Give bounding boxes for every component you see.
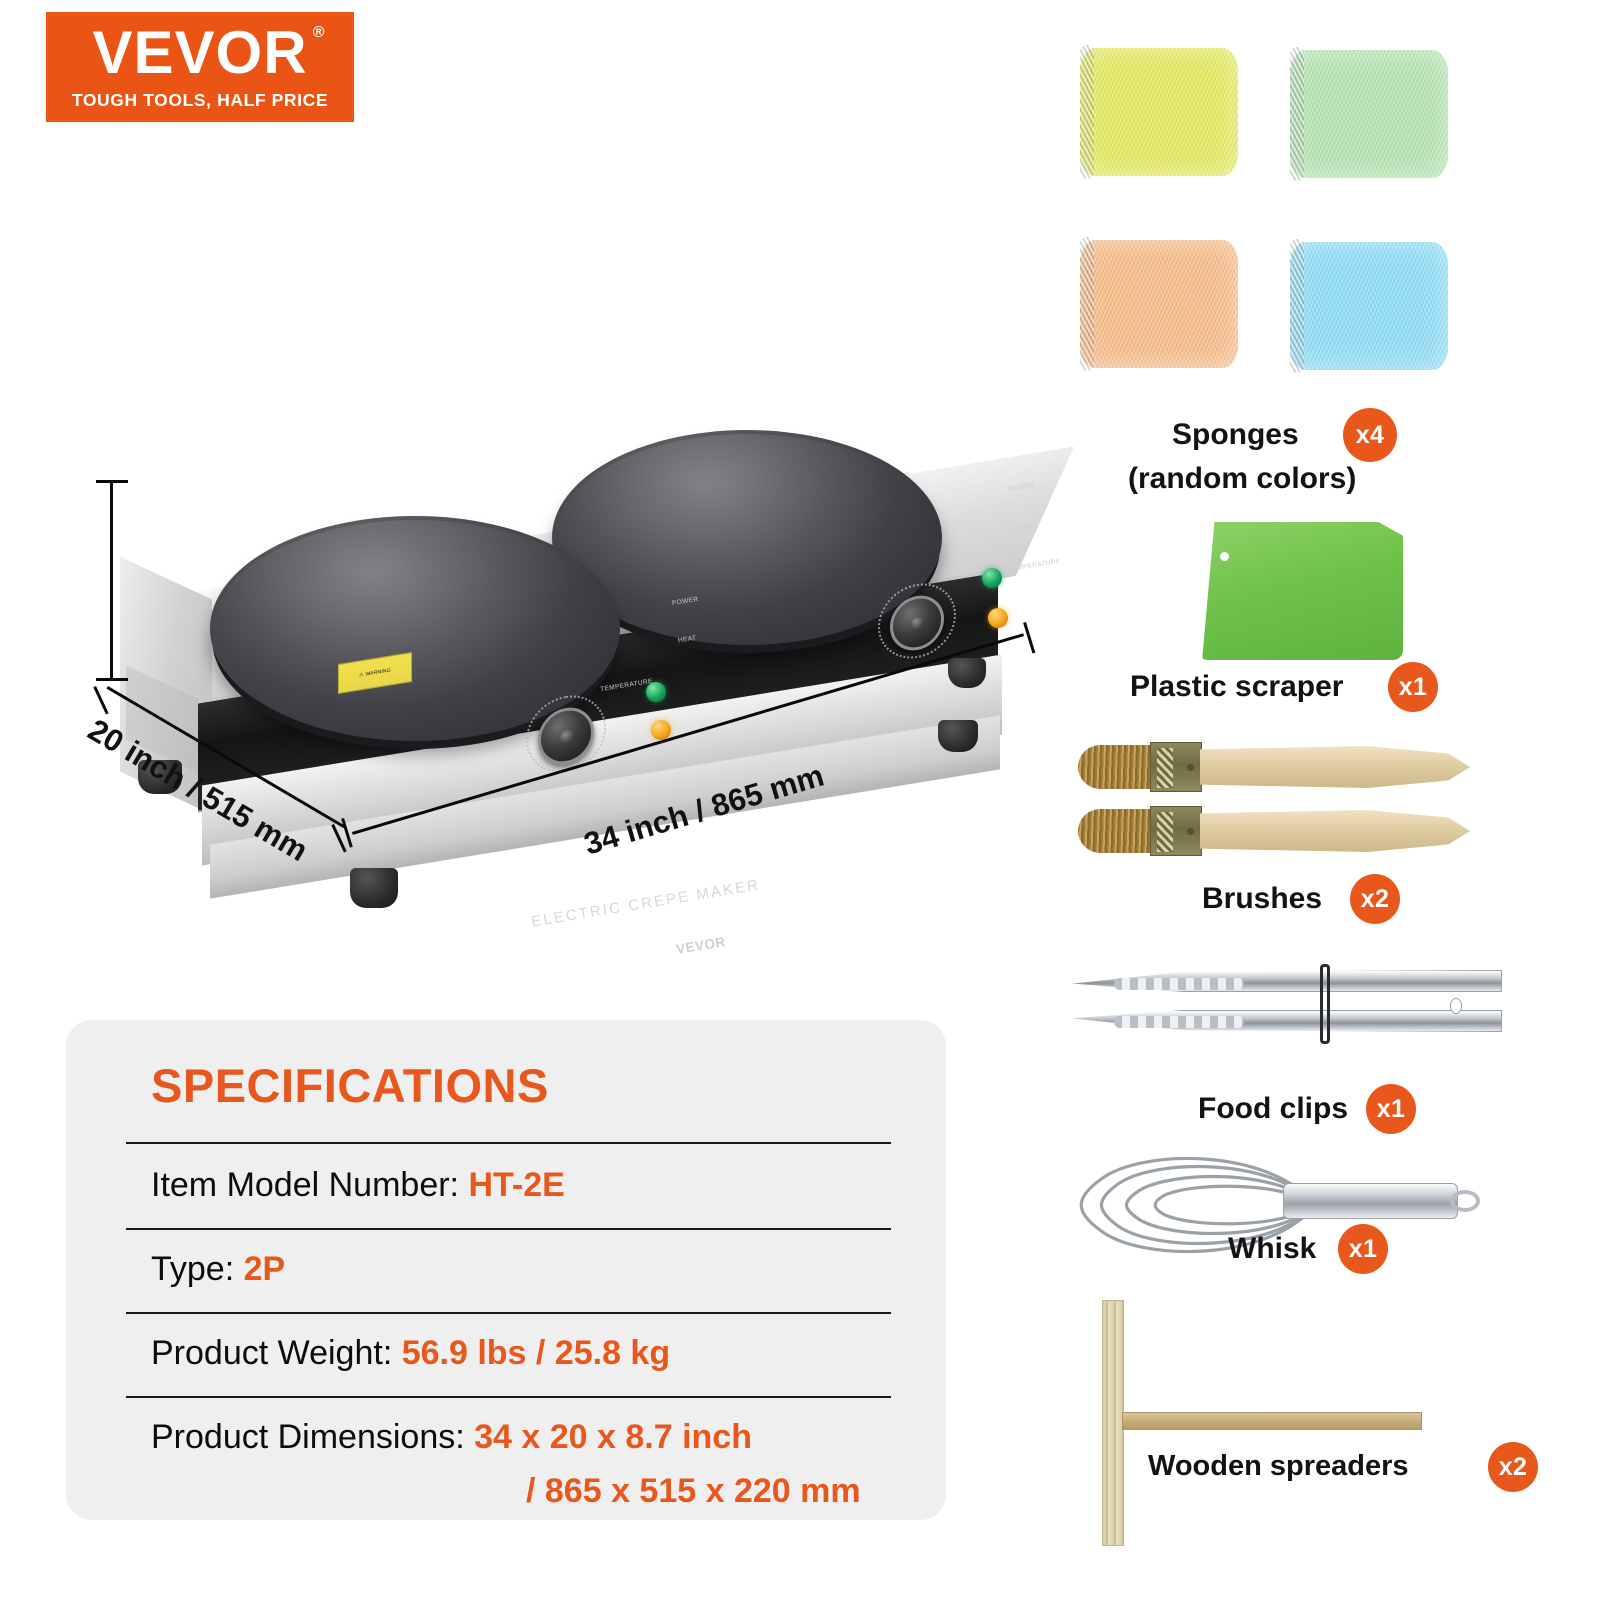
whisk-label: Whisk bbox=[1228, 1232, 1316, 1266]
spec-label-type: Type: bbox=[151, 1250, 244, 1288]
brush-item bbox=[1078, 742, 1470, 792]
spec-label-weight: Product Weight: bbox=[151, 1334, 402, 1372]
brushes-label: Brushes bbox=[1202, 882, 1322, 916]
specifications-title: SPECIFICATIONS bbox=[151, 1058, 549, 1113]
spec-divider bbox=[126, 1228, 891, 1230]
brush-handle bbox=[1200, 746, 1470, 788]
whisk-qty-badge: x1 bbox=[1338, 1224, 1388, 1274]
panel-brand-text: VEVOR bbox=[675, 934, 727, 957]
sponge-item bbox=[1290, 50, 1448, 178]
spec-value-type: 2P bbox=[244, 1250, 286, 1288]
food-clips-item bbox=[1072, 958, 1502, 1048]
tong-lock-ring bbox=[1320, 964, 1330, 1044]
brand-wordmark: VEVOR ® bbox=[92, 23, 307, 83]
wooden-spreaders-qty-badge: x2 bbox=[1488, 1442, 1538, 1492]
specifications-panel: SPECIFICATIONS Item Model Number: HT-2E … bbox=[66, 1020, 946, 1520]
brush-ferrule bbox=[1150, 742, 1202, 792]
brand-tagline: TOUGH TOOLS, HALF PRICE bbox=[72, 90, 328, 111]
height-dim-line bbox=[110, 480, 113, 680]
heat-indicator-right bbox=[988, 608, 1008, 628]
spec-row-type: Type: 2P bbox=[151, 1250, 285, 1289]
brush-item bbox=[1078, 806, 1470, 856]
spec-divider bbox=[126, 1312, 891, 1314]
spreader-crossbar bbox=[1102, 1300, 1124, 1546]
height-dim-label: 8.7 inch / 220 mm bbox=[0, 263, 2, 520]
product-photo: ⚠ WARNING ELECTRIC CREPE MAKER VEVOR POW… bbox=[0, 330, 1040, 930]
scraper-hole bbox=[1220, 552, 1229, 561]
spreader-handle bbox=[1122, 1412, 1422, 1430]
spec-row-weight: Product Weight: 56.9 lbs / 25.8 kg bbox=[151, 1334, 670, 1373]
wooden-spreader-item bbox=[1080, 1300, 1500, 1550]
brush-handle bbox=[1200, 810, 1470, 852]
whisk-handle bbox=[1283, 1183, 1458, 1219]
sponges-label: Sponges bbox=[1172, 418, 1299, 452]
food-clips-label: Food clips bbox=[1198, 1092, 1348, 1126]
infographic-page: VEVOR ® TOUGH TOOLS, HALF PRICE ⚠ WARNIN… bbox=[0, 0, 1600, 1600]
spec-divider bbox=[126, 1396, 891, 1398]
whisk-hang-loop bbox=[1450, 1190, 1480, 1212]
sponge-item bbox=[1080, 48, 1238, 176]
spec-value-dimensions: 34 x 20 x 8.7 inch bbox=[474, 1418, 752, 1456]
machine-foot bbox=[350, 868, 398, 908]
spec-row-model: Item Model Number: HT-2E bbox=[151, 1166, 565, 1205]
spec-value-weight: 56.9 lbs / 25.8 kg bbox=[402, 1334, 670, 1372]
machine-foot bbox=[948, 658, 986, 688]
heat-indicator-left bbox=[651, 720, 671, 740]
height-dim-tick-bottom bbox=[96, 678, 128, 681]
spec-value-model: HT-2E bbox=[468, 1166, 564, 1204]
spec-divider bbox=[126, 1142, 891, 1144]
brush-bristles bbox=[1078, 809, 1154, 853]
sponges-qty-badge: x4 bbox=[1343, 408, 1397, 462]
brush-bristles bbox=[1078, 745, 1154, 789]
sponge-item bbox=[1290, 242, 1448, 370]
wooden-spreaders-label: Wooden spreaders bbox=[1148, 1450, 1409, 1483]
vevor-logo: VEVOR ® TOUGH TOOLS, HALF PRICE bbox=[46, 12, 354, 122]
sponges-note: (random colors) bbox=[1128, 462, 1356, 496]
registered-trademark-icon: ® bbox=[313, 25, 326, 41]
accessories-column: Sponges x4 (random colors) Plastic scrap… bbox=[1050, 0, 1600, 1600]
power-indicator-right bbox=[982, 568, 1002, 588]
tong-scallop-lower bbox=[1114, 1016, 1244, 1028]
height-dim-tick-top bbox=[96, 480, 128, 483]
brand-name: VEVOR bbox=[92, 19, 307, 86]
sponge-item bbox=[1080, 240, 1238, 368]
spec-value-dimensions-mm: / 865 x 515 x 220 mm bbox=[526, 1472, 861, 1511]
tong-scallop-upper bbox=[1114, 978, 1244, 990]
food-clips-qty-badge: x1 bbox=[1366, 1084, 1416, 1134]
plastic-scraper-item bbox=[1198, 522, 1403, 660]
brush-ferrule bbox=[1150, 806, 1202, 856]
brushes-qty-badge: x2 bbox=[1350, 874, 1400, 924]
plastic-scraper-qty-badge: x1 bbox=[1388, 662, 1438, 712]
machine-foot bbox=[938, 720, 978, 752]
spec-row-dimensions: Product Dimensions: 34 x 20 x 8.7 inch bbox=[151, 1418, 752, 1457]
plastic-scraper-label: Plastic scraper bbox=[1130, 670, 1343, 704]
tong-hang-hole bbox=[1450, 998, 1462, 1014]
spec-label-model: Item Model Number: bbox=[151, 1166, 468, 1204]
spec-label-dimensions: Product Dimensions: bbox=[151, 1418, 474, 1456]
